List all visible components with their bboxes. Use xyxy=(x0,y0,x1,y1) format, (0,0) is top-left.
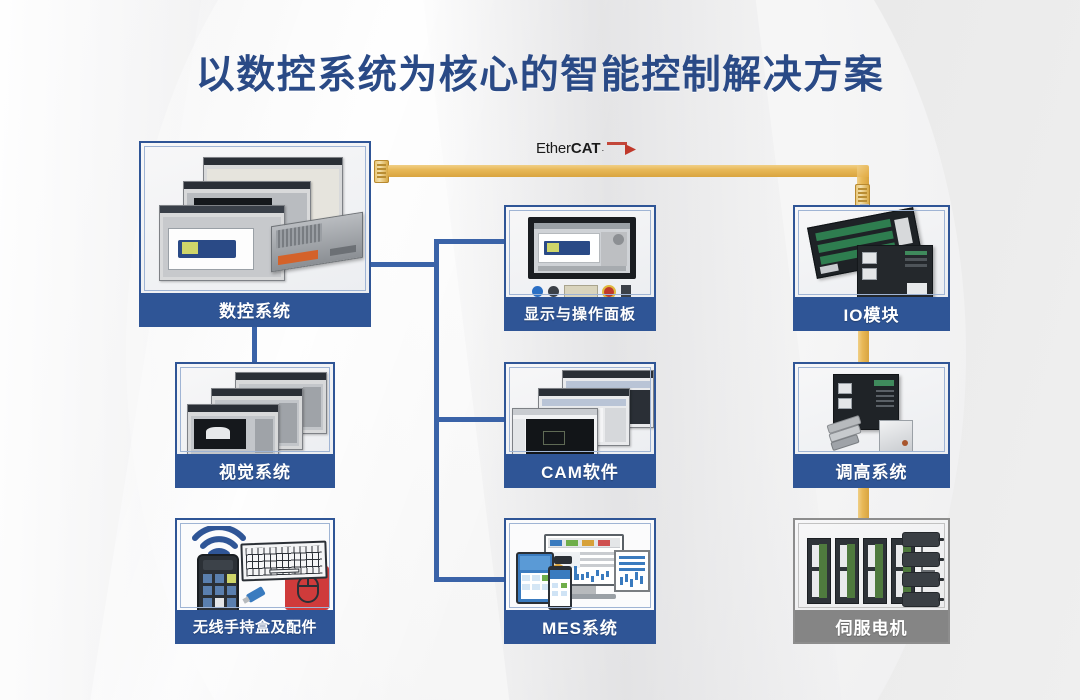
wire-trunk-to-mes xyxy=(434,577,506,582)
ethercat-arrow-icon xyxy=(605,138,635,158)
ethercat-logo-prefix: Ether xyxy=(536,140,571,157)
node-cnc-system-artwork xyxy=(141,143,369,293)
node-height-control-system-label: 调高系统 xyxy=(795,454,948,486)
node-io-module[interactable]: IO模块 xyxy=(793,205,950,331)
wire-trunk-vertical xyxy=(434,262,439,582)
wire-cnc-to-vision xyxy=(252,327,257,364)
node-mes-system[interactable]: MES系统 xyxy=(504,518,656,644)
rj45-connector-cnc xyxy=(374,160,389,183)
ethercat-logo: EtherCAT. xyxy=(536,138,635,158)
ethercat-logo-dot: . xyxy=(602,143,604,153)
node-wireless-handheld-box[interactable]: 无线手持盒及配件 xyxy=(175,518,335,644)
node-vision-system-label: 视觉系统 xyxy=(177,454,333,486)
node-mes-system-label: MES系统 xyxy=(506,610,654,642)
rj45-connector-io xyxy=(855,184,870,207)
ethercat-cable-horizontal xyxy=(388,165,869,177)
page-title: 以数控系统为核心的智能控制解决方案 xyxy=(0,44,1080,100)
node-io-module-label: IO模块 xyxy=(795,297,948,329)
node-servo-motor-label: 伺服电机 xyxy=(795,610,948,642)
node-wireless-handheld-box-label: 无线手持盒及配件 xyxy=(177,610,333,642)
wire-trunk-to-display xyxy=(434,239,506,244)
node-servo-motor[interactable]: 伺服电机 xyxy=(793,518,950,644)
wire-trunk-to-cam xyxy=(434,417,506,422)
wire-cnc-to-trunk xyxy=(371,262,439,267)
node-cam-software-artwork xyxy=(506,364,654,454)
node-vision-system[interactable]: 视觉系统 xyxy=(175,362,335,488)
wire-trunk-riser xyxy=(434,239,439,267)
ethercat-cable-height-to-servo xyxy=(858,488,869,518)
node-cnc-system-label: 数控系统 xyxy=(141,293,369,325)
node-display-operation-panel-label: 显示与操作面板 xyxy=(506,297,654,329)
node-wireless-handheld-box-artwork xyxy=(177,520,333,610)
node-height-control-system-artwork xyxy=(795,364,948,454)
diagram-canvas: 以数控系统为核心的智能控制解决方案 EtherCAT. xyxy=(0,0,1080,700)
node-vision-system-artwork xyxy=(177,364,333,454)
node-height-control-system[interactable]: 调高系统 xyxy=(793,362,950,488)
node-cam-software[interactable]: CAM软件 xyxy=(504,362,656,488)
ethercat-logo-suffix: CAT xyxy=(571,140,601,157)
node-mes-system-artwork xyxy=(506,520,654,610)
node-servo-motor-artwork xyxy=(795,520,948,610)
node-io-module-artwork xyxy=(795,207,948,297)
node-cam-software-label: CAM软件 xyxy=(506,454,654,486)
ethercat-cable-io-to-height xyxy=(858,331,869,362)
node-display-operation-panel[interactable]: 显示与操作面板 xyxy=(504,205,656,331)
node-cnc-system[interactable]: 数控系统 xyxy=(139,141,371,327)
node-display-operation-panel-artwork xyxy=(506,207,654,297)
